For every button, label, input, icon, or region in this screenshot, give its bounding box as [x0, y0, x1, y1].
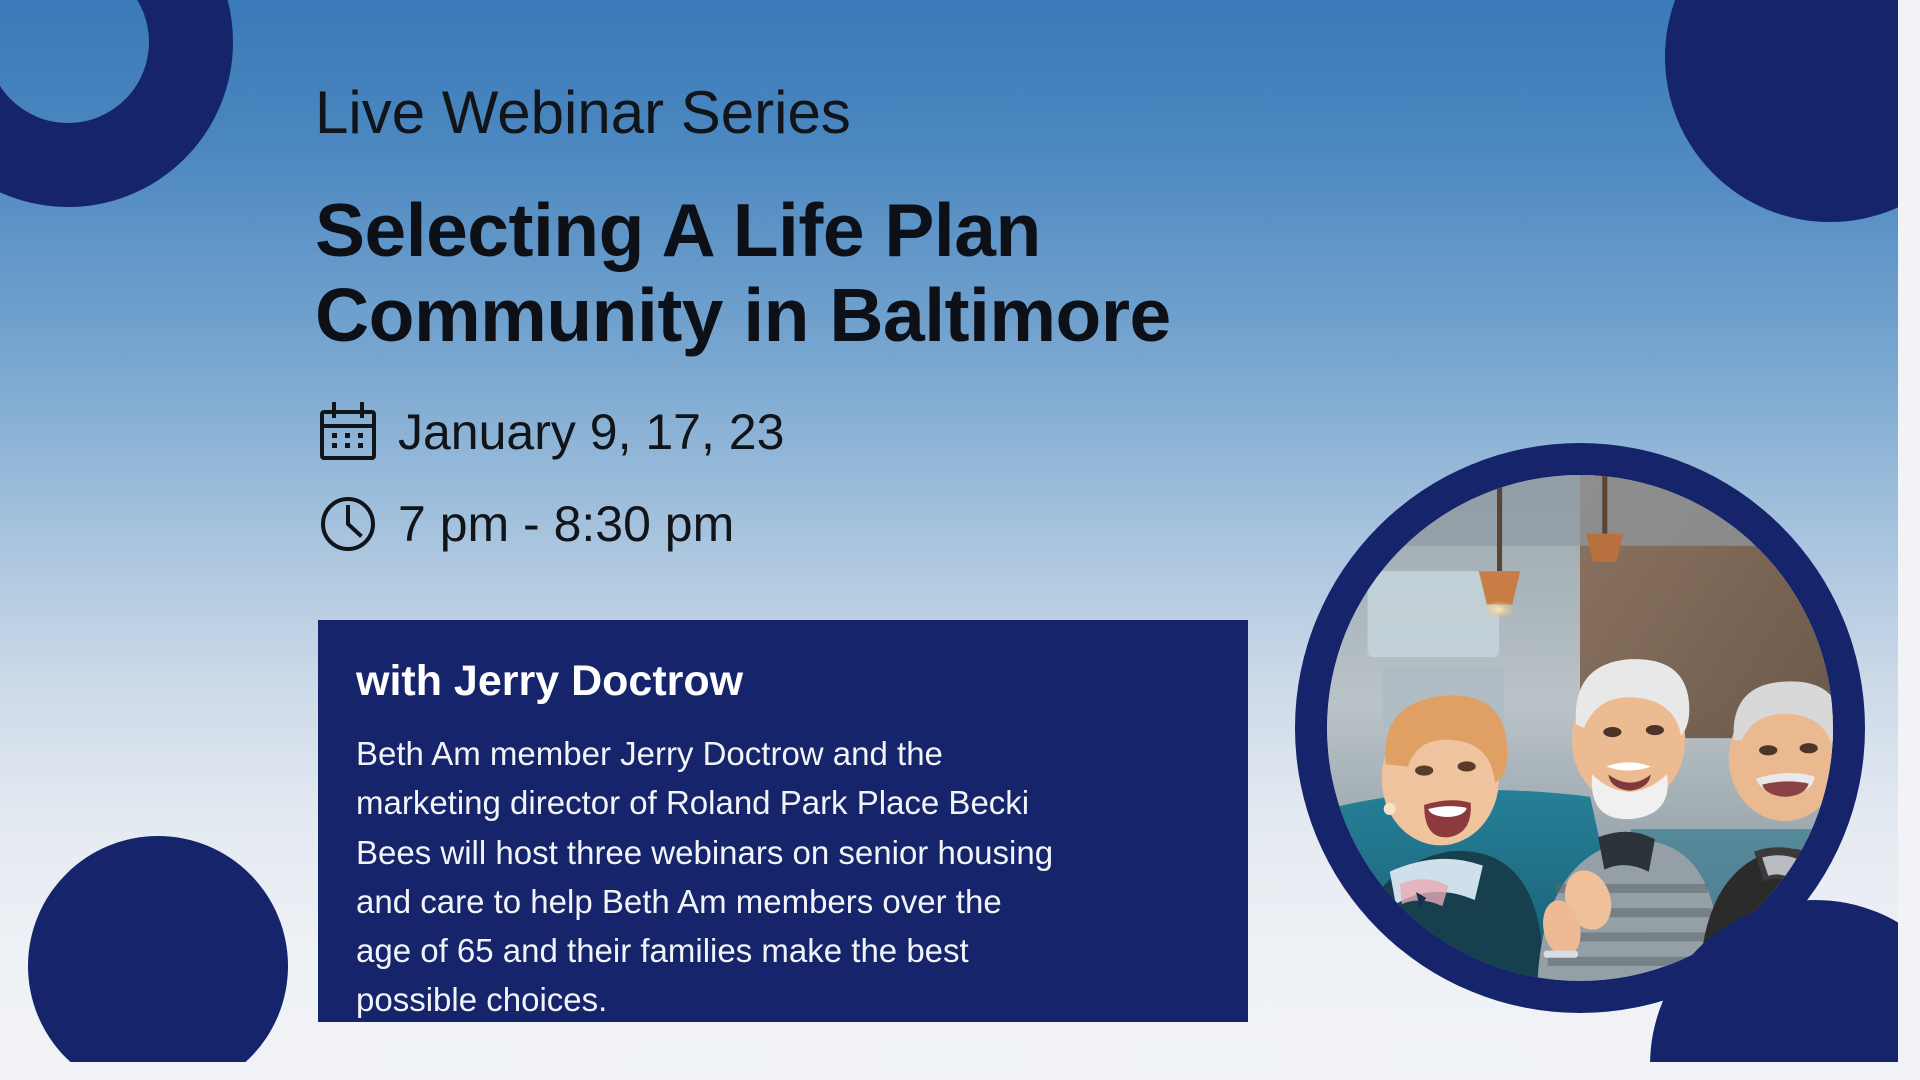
speaker-name-heading: with Jerry Doctrow: [356, 658, 1204, 705]
page-title-line-1: Selecting A Life Plan: [315, 188, 1171, 273]
page-title: Selecting A Life Plan Community in Balti…: [315, 188, 1171, 358]
event-time-row: 7 pm - 8:30 pm: [316, 492, 734, 556]
description-line: and care to help Beth Am members over th…: [356, 877, 1204, 926]
right-edge-strip: [1898, 0, 1920, 1080]
corner-bottom-right-decoration: [1620, 890, 1920, 1080]
description-line: Beth Am member Jerry Doctrow and the: [356, 729, 1204, 778]
calendar-icon: [316, 400, 380, 464]
description-line: marketing director of Roland Park Place …: [356, 778, 1204, 827]
webinar-promo-graphic: Live Webinar Series Selecting A Life Pla…: [0, 0, 1920, 1080]
event-time-text: 7 pm - 8:30 pm: [398, 499, 734, 549]
bottom-edge-strip: [0, 1062, 1920, 1080]
page-title-line-2: Community in Baltimore: [315, 273, 1171, 358]
speaker-info-panel: with Jerry Doctrow Beth Am member Jerry …: [318, 620, 1248, 1022]
clock-icon: [316, 492, 380, 556]
event-date-text: January 9, 17, 23: [398, 407, 784, 457]
description-line: possible choices.: [356, 975, 1204, 1024]
circle-bottom-left-decoration: [28, 836, 288, 1080]
speaker-description: Beth Am member Jerry Doctrow and the mar…: [356, 729, 1204, 1024]
description-line: Bees will host three webinars on senior …: [356, 828, 1204, 877]
event-date-row: January 9, 17, 23: [316, 400, 784, 464]
eyebrow-label: Live Webinar Series: [315, 78, 851, 147]
description-line: age of 65 and their families make the be…: [356, 926, 1204, 975]
